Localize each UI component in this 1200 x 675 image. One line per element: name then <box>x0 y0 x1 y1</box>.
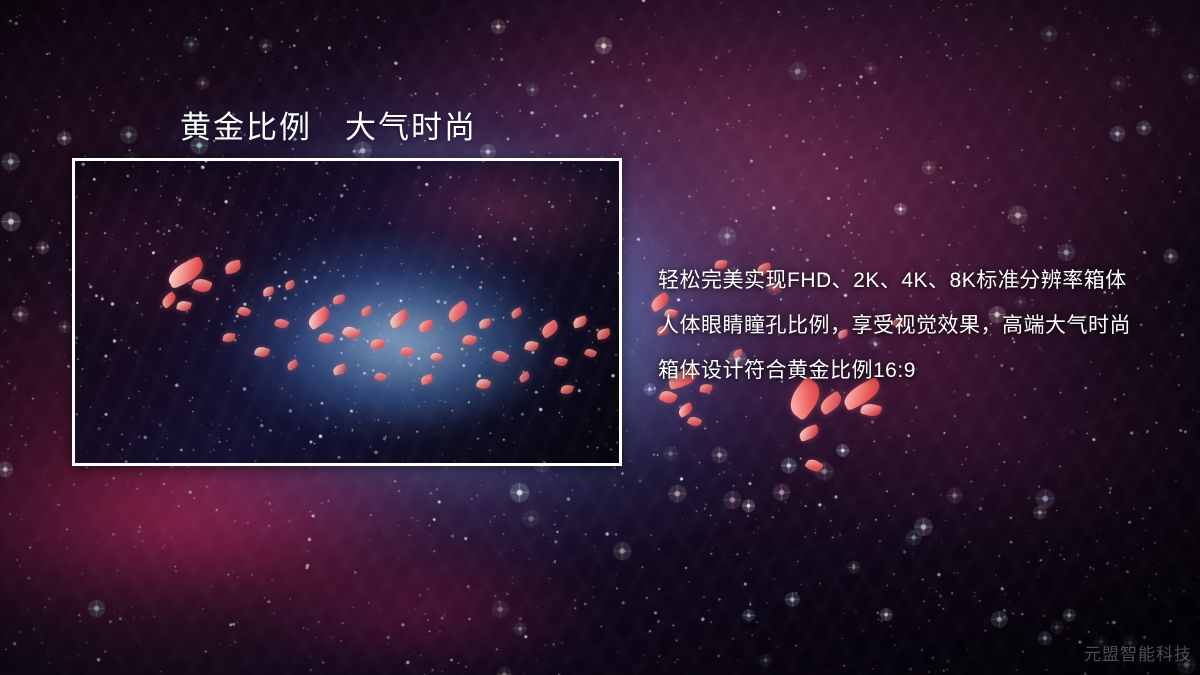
petal <box>341 324 360 341</box>
petal <box>222 332 235 343</box>
body-text-block: 轻松完美实现FHD、2K、4K、8K标准分辨率箱体 人体眼睛瞳孔比例，享受视觉效… <box>658 258 1178 393</box>
petal <box>491 348 509 365</box>
petal <box>370 338 385 350</box>
petal <box>478 318 491 329</box>
petal <box>560 384 573 395</box>
watermark: 元盟智能科技 <box>1084 640 1192 665</box>
petal <box>360 305 373 317</box>
framed-image-petals <box>75 161 619 463</box>
framed-image <box>72 158 622 466</box>
petal <box>284 280 296 291</box>
petal <box>524 340 539 353</box>
petal <box>333 294 346 304</box>
petal <box>476 377 492 391</box>
petal <box>237 305 252 319</box>
petal <box>262 286 274 296</box>
body-line-2: 人体眼睛瞳孔比例，享受视觉效果，高端大气时尚 <box>658 303 1178 348</box>
page-title: 黄金比例 大气时尚 <box>180 102 477 147</box>
petal <box>418 319 434 332</box>
petal <box>596 328 610 340</box>
petal <box>374 371 387 383</box>
petal <box>400 345 414 358</box>
petal <box>254 345 270 359</box>
petal <box>274 317 290 331</box>
presentation-slide: 黄金比例 大气时尚 轻松完美实现FHD、2K、4K、8K标准分辨率箱体 人体眼睛… <box>0 0 1200 675</box>
petal <box>462 333 477 346</box>
petal <box>305 305 333 330</box>
body-line-3: 箱体设计符合黄金比例16:9 <box>658 348 1178 393</box>
petal <box>387 309 410 329</box>
petal <box>539 319 561 339</box>
petal <box>176 299 192 312</box>
petal <box>510 307 523 319</box>
petal <box>572 315 588 328</box>
petal <box>318 331 334 345</box>
petal <box>554 355 568 368</box>
petal <box>430 351 443 363</box>
petal <box>445 300 470 323</box>
petal <box>286 359 299 371</box>
petal <box>420 374 434 385</box>
petal <box>191 276 213 295</box>
body-line-1: 轻松完美实现FHD、2K、4K、8K标准分辨率箱体 <box>658 258 1178 303</box>
petal <box>584 347 597 359</box>
petal <box>518 371 531 383</box>
petal <box>224 259 242 274</box>
petal <box>332 363 347 376</box>
